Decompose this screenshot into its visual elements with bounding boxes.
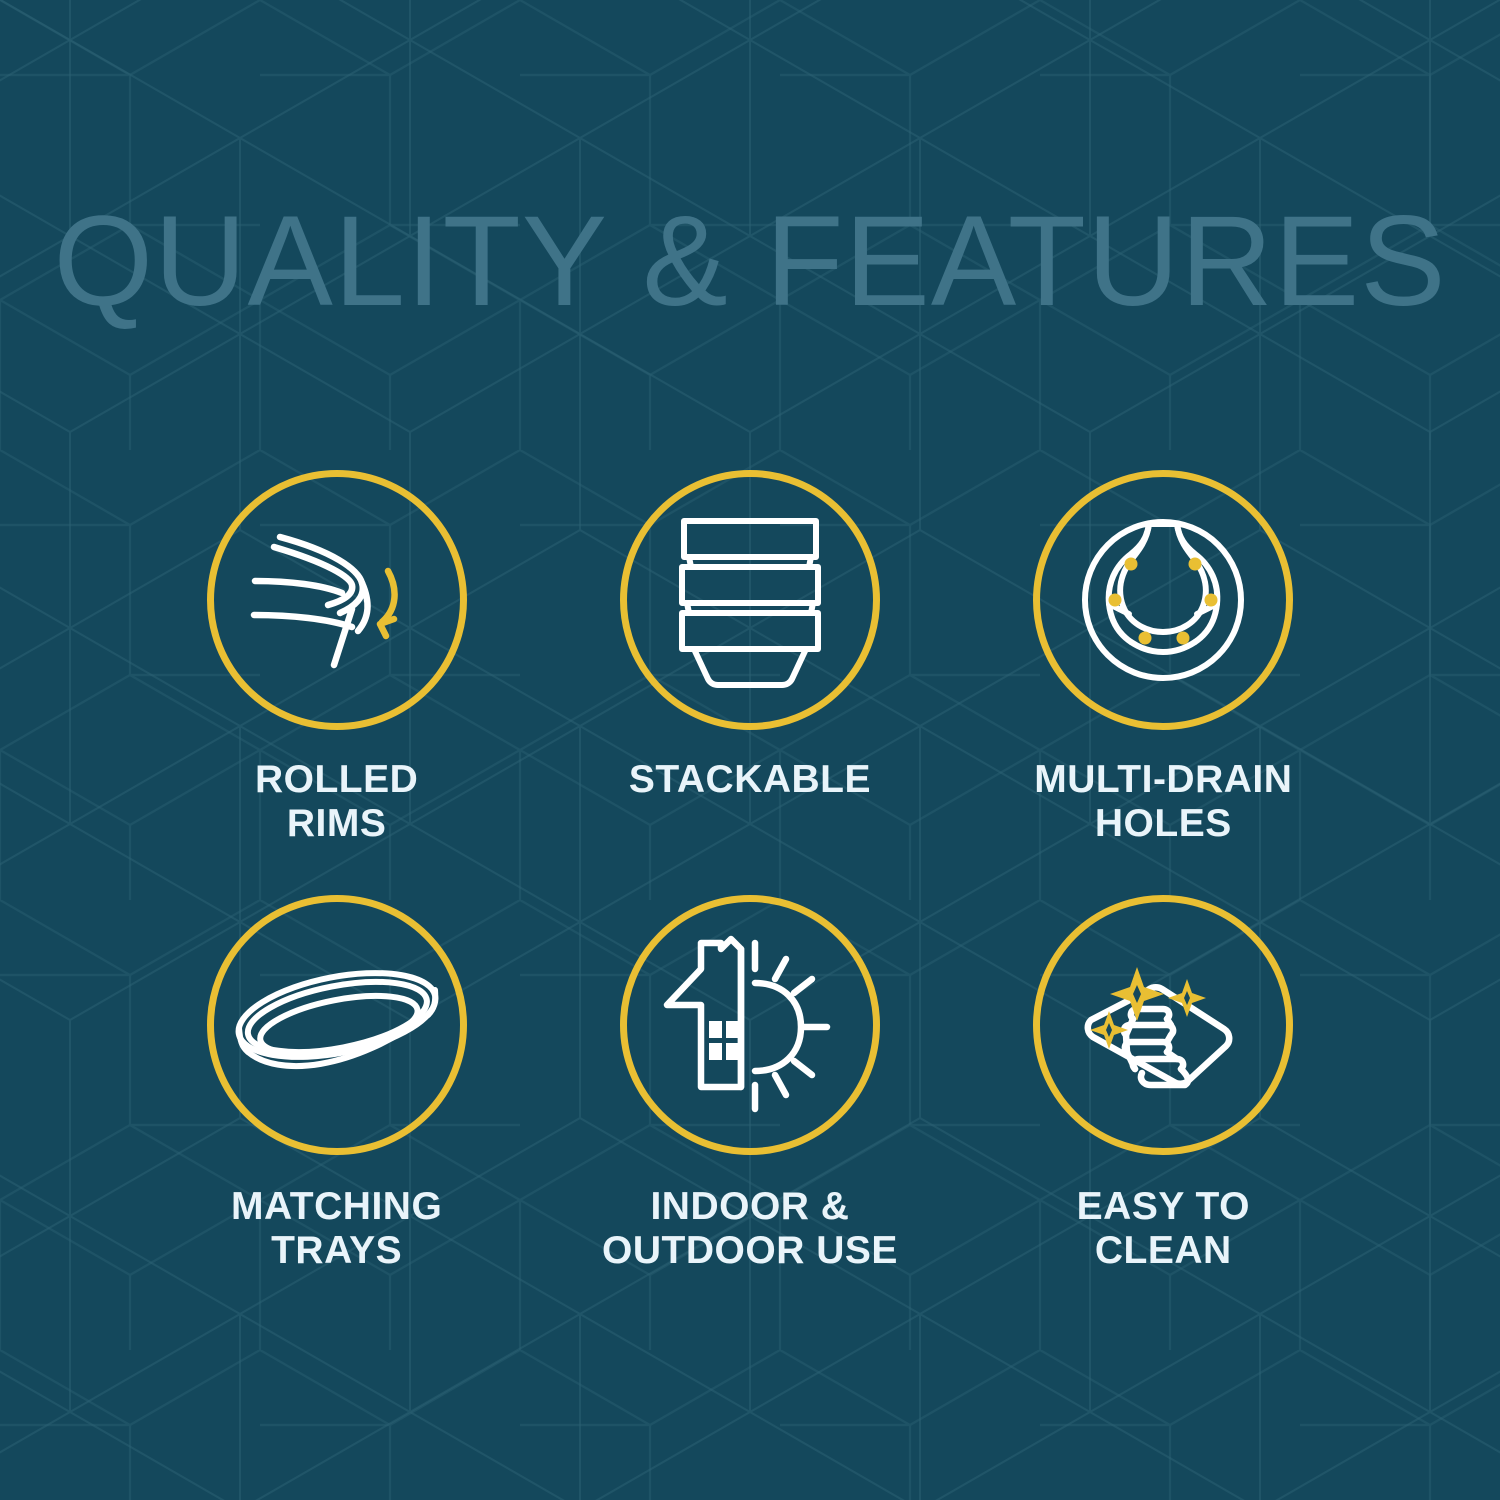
drain-holes-icon xyxy=(1073,510,1253,690)
feature-label-rolled-rims: ROLLED RIMS xyxy=(255,758,418,845)
window-icon xyxy=(709,1021,739,1060)
badge-easy-to-clean xyxy=(1033,895,1293,1155)
badge-stackable xyxy=(620,470,880,730)
rotation-arrow-icon xyxy=(380,571,395,636)
stacked-pots-icon xyxy=(660,505,840,695)
saucer-tray-icon xyxy=(232,945,442,1105)
feature-matching-trays: MATCHING TRAYS xyxy=(137,895,537,1320)
features-grid: ROLLED RIMS xyxy=(130,470,1370,1320)
wiping-hand-sparkle-icon xyxy=(1063,933,1263,1118)
feature-multi-drain-holes: MULTI-DRAIN HOLES xyxy=(963,470,1363,895)
house-sun-icon xyxy=(655,935,845,1115)
badge-indoor-outdoor-use xyxy=(620,895,880,1155)
badge-multi-drain-holes xyxy=(1033,470,1293,730)
badge-rolled-rims xyxy=(207,470,467,730)
house-icon xyxy=(667,939,741,1087)
feature-label-matching-trays: MATCHING TRAYS xyxy=(231,1185,442,1272)
page-title: QUALITY & FEATURES xyxy=(0,198,1500,326)
feature-label-stackable: STACKABLE xyxy=(629,758,871,802)
badge-matching-trays xyxy=(207,895,467,1155)
feature-label-multi-drain-holes: MULTI-DRAIN HOLES xyxy=(1034,758,1292,845)
feature-stackable: STACKABLE xyxy=(550,470,950,895)
feature-label-indoor-outdoor-use: INDOOR & OUTDOOR USE xyxy=(602,1185,898,1272)
feature-indoor-outdoor-use: INDOOR & OUTDOOR USE xyxy=(550,895,950,1320)
rolled-rim-icon xyxy=(242,505,432,695)
feature-infographic: QUALITY & FEATURES xyxy=(0,0,1500,1500)
feature-label-easy-to-clean: EASY TO CLEAN xyxy=(1077,1185,1250,1272)
half-sun-icon xyxy=(755,943,827,1109)
feature-easy-to-clean: EASY TO CLEAN xyxy=(963,895,1363,1320)
feature-rolled-rims: ROLLED RIMS xyxy=(137,470,537,895)
